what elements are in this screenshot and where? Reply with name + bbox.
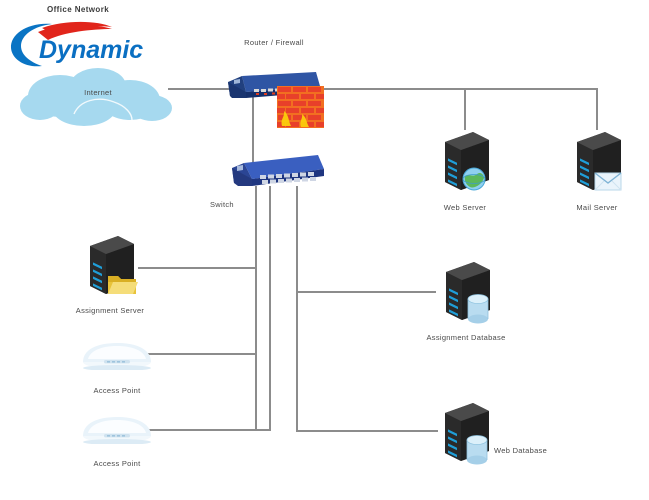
link-access-point-1	[145, 353, 257, 355]
access-point-icon[interactable]	[82, 340, 152, 370]
switch-icon[interactable]	[232, 155, 324, 193]
link-switch-mid-riser	[269, 186, 271, 430]
access-point-1-label: Access Point	[94, 386, 141, 395]
web-database-label: Web Database	[494, 446, 547, 455]
link-switch-left-riser	[255, 186, 257, 431]
server-db-icon[interactable]	[438, 258, 494, 324]
switch-label: Switch	[210, 200, 234, 209]
internet-label: Internet	[84, 88, 112, 97]
link-trunk-mailserver	[596, 88, 598, 130]
link-access-point-2	[145, 429, 271, 431]
router-firewall-label: Router / Firewall	[244, 38, 304, 47]
firewall-brick-icon[interactable]	[277, 86, 324, 128]
access-point-2-label: Access Point	[94, 459, 141, 468]
server-db-icon[interactable]	[437, 399, 493, 465]
link-router-trunk-right	[313, 88, 598, 90]
page-title: Office Network	[47, 5, 109, 14]
link-assignment-database	[296, 291, 436, 293]
server-globe-icon[interactable]	[437, 128, 493, 194]
web-server-label: Web Server	[444, 203, 486, 212]
network-diagram-canvas: Office Network Dynamic	[0, 0, 649, 500]
link-assignment-server	[138, 267, 257, 269]
internet-cloud[interactable]: Internet	[18, 66, 178, 128]
link-switch-right-riser	[296, 186, 298, 431]
access-point-icon[interactable]	[82, 414, 152, 444]
assignment-database-label: Assignment Database	[426, 333, 505, 342]
dynamic-logo: Dynamic	[8, 18, 168, 70]
assignment-server-label: Assignment Server	[76, 306, 144, 315]
link-trunk-webserver	[464, 88, 466, 130]
server-folder-icon[interactable]	[82, 232, 138, 298]
link-router-switch	[252, 92, 254, 164]
mail-server-label: Mail Server	[576, 203, 617, 212]
link-web-database	[296, 430, 438, 432]
logo-wordmark: Dynamic	[39, 36, 143, 64]
server-mail-icon[interactable]	[569, 128, 625, 194]
